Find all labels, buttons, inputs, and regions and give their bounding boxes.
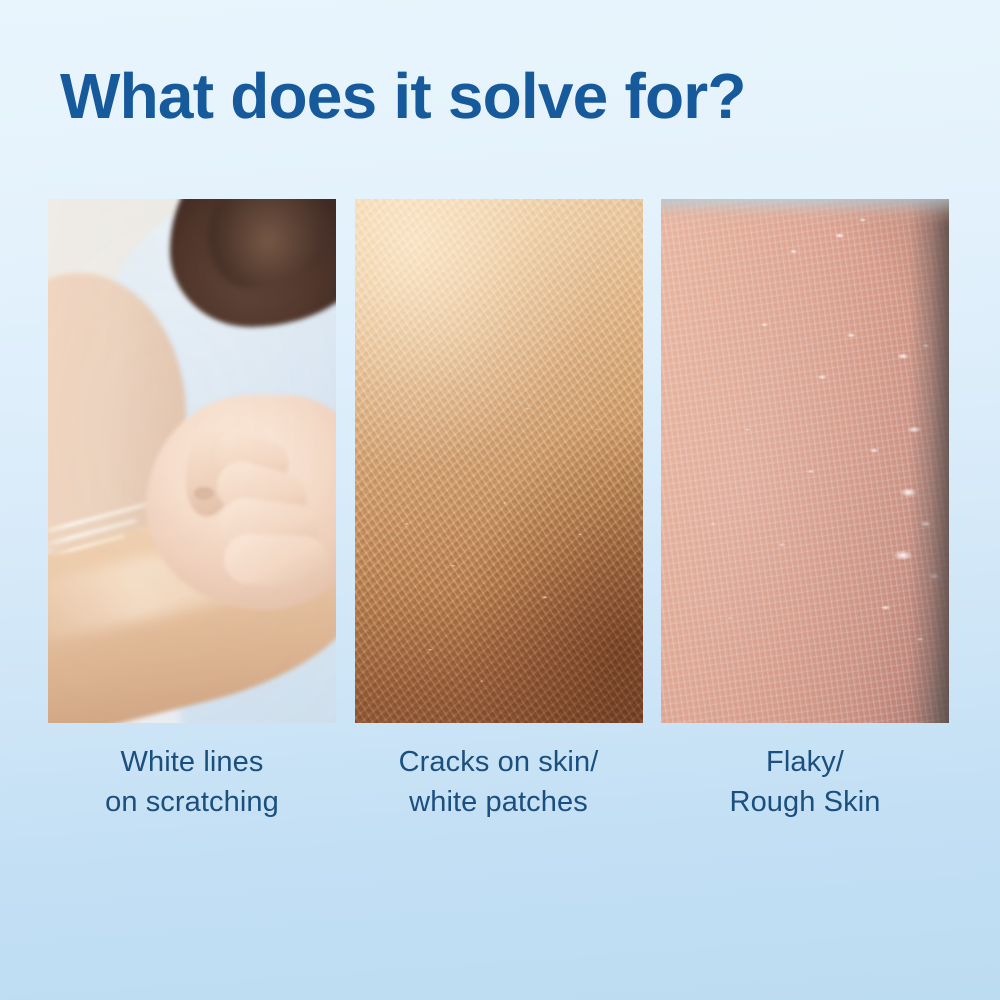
- caption-card-2: Cracks on skin/ white patches: [355, 742, 643, 822]
- woman-scratching-forearm-photo: [48, 199, 336, 723]
- caption-card-1: White lines on scratching: [48, 742, 336, 822]
- caption-2-line-2: white patches: [355, 782, 643, 822]
- caption-card-3: Flaky/ Rough Skin: [661, 742, 949, 822]
- dry-cracked-skin-macro-photo: [355, 199, 643, 723]
- photo1-soft-focus-overlay: [48, 199, 336, 723]
- problem-card-1[interactable]: [48, 199, 336, 723]
- flaky-rough-skin-macro-photo: [661, 199, 949, 723]
- caption-1-line-2: on scratching: [48, 782, 336, 822]
- page-title: What does it solve for?: [60, 63, 746, 130]
- problem-card-3[interactable]: [661, 199, 949, 723]
- problem-card-row: [48, 199, 949, 723]
- photo3-vignette: [661, 199, 949, 723]
- poster-root: What does it solve for?: [0, 0, 1000, 1000]
- caption-1-line-1: White lines: [48, 742, 336, 782]
- caption-3-line-2: Rough Skin: [661, 782, 949, 822]
- caption-row: White lines on scratching Cracks on skin…: [48, 742, 949, 822]
- problem-card-2[interactable]: [355, 199, 643, 723]
- caption-2-line-1: Cracks on skin/: [355, 742, 643, 782]
- photo2-vignette: [355, 199, 643, 723]
- caption-3-line-1: Flaky/: [661, 742, 949, 782]
